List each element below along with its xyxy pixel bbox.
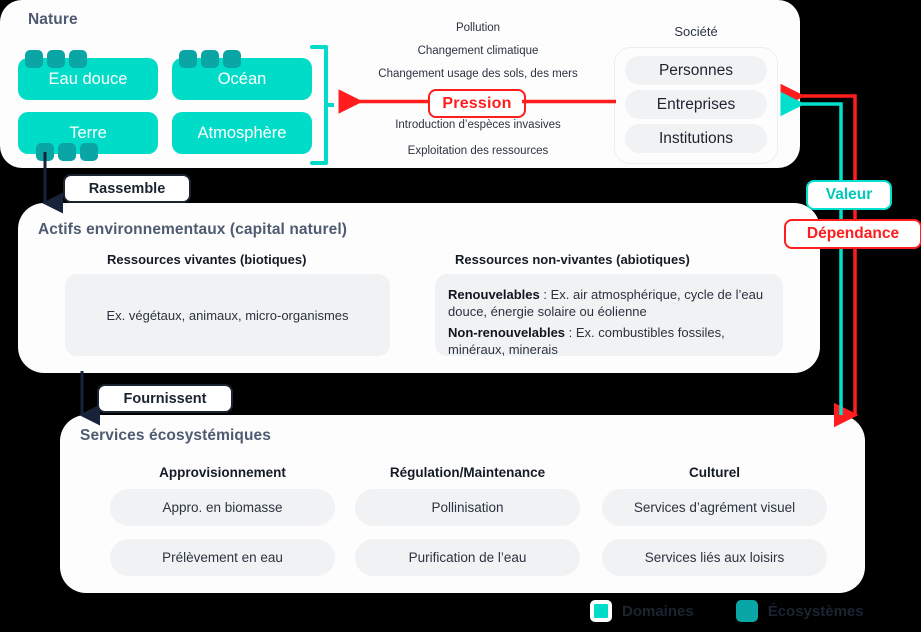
legend-item-ecosystemes: Écosystèmes [736,600,864,622]
domain-box-atmosphere[interactable]: Atmosphère [172,112,312,154]
ecosystem-square [223,50,241,68]
ecosystem-square [25,50,43,68]
actifs-column-heading-abiotiques: Ressources non-vivantes (abiotiques) [455,252,690,267]
ecosystem-square [47,50,65,68]
rassemble-label: Rassemble [63,174,191,203]
nature-title: Nature [28,11,78,29]
domaines-swatch-icon [590,600,612,622]
societe-actor-entreprises[interactable]: Entreprises [625,90,767,119]
ecosystem-markers-eau-douce [25,50,87,68]
service-item-prelevement-eau[interactable]: Prélèvement en eau [110,539,335,576]
societe-actor-personnes[interactable]: Personnes [625,56,767,85]
societe-title: Société [616,24,776,39]
pression-label: Pression [428,89,526,118]
pressure-item-changement-climatique: Changement climatique [332,45,624,57]
legend-item-domaines: Domaines [590,600,694,622]
actifs-term-non-renouvelables: Non-renouvelables [448,325,565,340]
actifs-entry-non-renouvelables: Non-renouvelables : Ex. combustibles fos… [448,324,770,358]
pressure-item-changement-usage-sols: Changement usage des sols, des mers [332,68,624,80]
societe-box: Personnes Entreprises Institutions [614,47,778,164]
dependance-label: Dépendance [784,219,921,249]
services-column-heading-approvisionnement: Approvisionnement [110,465,335,480]
ecosystem-square [69,50,87,68]
right-brace-icon [310,44,334,166]
service-item-purification-eau[interactable]: Purification de l’eau [355,539,580,576]
actifs-biotiques-text: Ex. végétaux, animaux, micro-organismes [65,274,390,356]
legend: Domaines Écosystèmes [590,600,864,622]
diagram-canvas: Nature Eau douce Océan Terre Atmosphère … [0,0,921,632]
services-column-heading-regulation: Régulation/Maintenance [355,465,580,480]
ecosystem-markers-terre [36,143,98,161]
actifs-entry-renouvelables: Renouvelables : Ex. air atmosphérique, c… [448,286,770,320]
service-item-appro-biomasse[interactable]: Appro. en biomasse [110,489,335,526]
ecosystemes-swatch-icon [736,600,758,622]
service-item-agrement-visuel[interactable]: Services d’agrément visuel [602,489,827,526]
services-column-heading-culturel: Culturel [602,465,827,480]
pressure-item-pollution: Pollution [332,22,624,34]
ecosystem-markers-ocean [179,50,241,68]
ecosystem-square [179,50,197,68]
legend-label-ecosystemes: Écosystèmes [768,603,864,620]
pressure-item-especes-invasives: Introduction d’espèces invasives [332,119,624,131]
legend-label-domaines: Domaines [622,603,694,620]
ecosystem-square [58,143,76,161]
service-item-loisirs[interactable]: Services liés aux loisirs [602,539,827,576]
actifs-term-renouvelables: Renouvelables [448,287,540,302]
fournissent-label: Fournissent [97,384,233,413]
actifs-title: Actifs environnementaux (capital naturel… [38,221,347,239]
services-title: Services écosystémiques [80,427,271,445]
pressure-item-exploitation-ressources: Exploitation des ressources [332,145,624,157]
ecosystem-square [36,143,54,161]
societe-actor-institutions[interactable]: Institutions [625,124,767,153]
valeur-label: Valeur [806,180,892,210]
ecosystem-square [80,143,98,161]
actifs-column-heading-biotiques: Ressources vivantes (biotiques) [107,252,306,267]
ecosystem-square [201,50,219,68]
service-item-pollinisation[interactable]: Pollinisation [355,489,580,526]
